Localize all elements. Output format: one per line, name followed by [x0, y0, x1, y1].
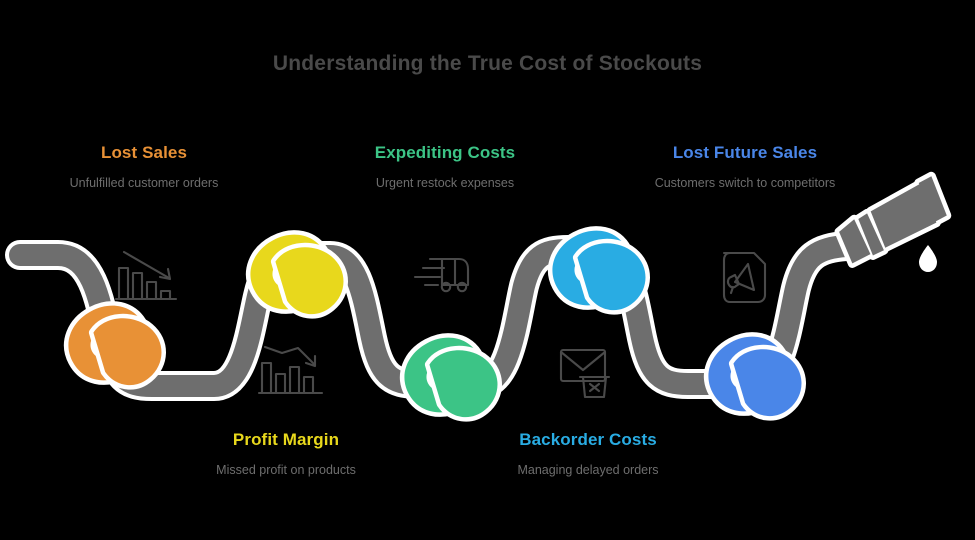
declining-bar-chart-icon [112, 246, 180, 304]
knot-expediting-costs [392, 321, 509, 438]
label-lost-future-sales-description: Customers switch to competitors [635, 175, 855, 192]
label-backorder-costs: Backorder Costs Managing delayed orders [478, 430, 698, 479]
bar-chart-trend-down-icon [256, 342, 326, 398]
label-expediting-costs-description: Urgent restock expenses [335, 175, 555, 192]
knot-lost-future-sales [696, 320, 813, 437]
knot-backorder-costs [540, 214, 657, 331]
knot-lost-sales [56, 289, 173, 406]
envelope-trash-icon [558, 344, 620, 400]
water-droplet-icon [919, 245, 937, 272]
knot-profit-margin [238, 218, 355, 335]
page-title: Understanding the True Cost of Stockouts [0, 52, 975, 76]
label-expediting-costs: Expediting Costs Urgent restock expenses [335, 143, 555, 192]
infographic-canvas: Understanding the True Cost of Stockouts [0, 0, 975, 540]
label-backorder-costs-title: Backorder Costs [478, 430, 698, 450]
label-lost-future-sales-title: Lost Future Sales [635, 143, 855, 163]
label-lost-future-sales: Lost Future Sales Customers switch to co… [635, 143, 855, 192]
delivery-truck-icon [412, 250, 476, 298]
label-profit-margin: Profit Margin Missed profit on products [176, 430, 396, 479]
label-expediting-costs-title: Expediting Costs [335, 143, 555, 163]
label-lost-sales-title: Lost Sales [34, 143, 254, 163]
label-backorder-costs-description: Managing delayed orders [478, 462, 698, 479]
label-profit-margin-title: Profit Margin [176, 430, 396, 450]
label-lost-sales: Lost Sales Unfulfilled customer orders [34, 143, 254, 192]
megaphone-document-icon [718, 248, 770, 306]
label-profit-margin-description: Missed profit on products [176, 462, 396, 479]
label-lost-sales-description: Unfulfilled customer orders [34, 175, 254, 192]
